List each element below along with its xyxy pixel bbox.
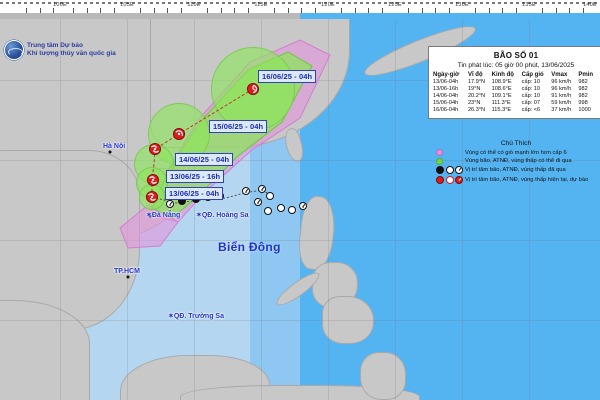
place-label-hoangsa: ✶QĐ. Hoàng Sa [196, 211, 249, 219]
legend-label: Vị trí tâm bão, ATNĐ, vùng thấp hiện tại… [465, 177, 588, 183]
legend-symbols [428, 158, 462, 165]
cell-latitude: 26.3°N [468, 107, 492, 114]
col-longitude: Kinh độ [492, 72, 522, 79]
gridline-lat [0, 320, 600, 321]
cell-datetime: 15/06-04h [433, 100, 468, 107]
gridline-lon [328, 18, 329, 400]
lon-tick-100e: 100E [53, 2, 67, 8]
col-windlevel: Cấp gió [522, 72, 552, 79]
cell-datetime: 13/06-16h [433, 86, 468, 93]
cell-vmax: 59 km/h [551, 100, 578, 107]
track-label-15-06: 15/06/25 - 04h [209, 120, 267, 133]
cell-vmax: 96 km/h [551, 79, 578, 86]
legend-row-current-position: Vị trí tâm bão, ATNĐ, vùng thấp hiện tại… [428, 176, 600, 184]
cell-longitude: 111.3°E [492, 100, 522, 107]
lon-tick-135e: 135E [522, 2, 536, 8]
cell-latitude: 23°N [468, 100, 492, 107]
col-datetime: Ngày-giờ [433, 72, 468, 79]
typhoon-forecast-map: 16/06/25 - 04h 15/06/25 - 04h 14/06/25 -… [0, 0, 600, 400]
storm-center-16-06 [247, 83, 260, 96]
red-half-circle-icon [455, 176, 463, 184]
black-open-circle-icon [446, 166, 454, 174]
black-filled-circle-icon [436, 166, 444, 174]
storm-center-14-06 [149, 143, 162, 156]
lon-tick-125e: 125E [388, 2, 402, 8]
place-label-truongsa: ✶QĐ. Trường Sa [168, 312, 224, 320]
landmass-sulawesi [360, 352, 406, 400]
cell-windlevel: cấp: 07 [522, 100, 552, 107]
lon-tick-130e: 130E [455, 2, 469, 8]
cell-pmin: 998 [578, 100, 599, 107]
legend-row-past-position: Vị trí tâm bão, ATNĐ, vùng thấp đã qua [428, 166, 600, 174]
storm-center-13-06-04h-current [146, 191, 159, 204]
city-marker-hcmc [127, 276, 130, 279]
lon-tick-110e: 110E [187, 2, 200, 8]
past-position-marker [254, 198, 262, 206]
legend-row-track-area: Vùng bão, ATNĐ, vùng thấp có thể đi qua [428, 158, 600, 165]
legend-symbols [428, 166, 462, 174]
cell-longitude: 109.1°E [492, 93, 522, 100]
cell-windlevel: cấp: 10 [522, 79, 552, 86]
black-half-circle-icon [455, 166, 463, 174]
past-position-marker [288, 206, 296, 214]
table-header-row: Ngày-giờ Vĩ độ Kinh độ Cấp gió Vmax Pmin [433, 72, 599, 79]
col-latitude: Vĩ độ [468, 72, 492, 79]
agency-name: Trung tâm Dự báo Khí tượng thủy văn quốc… [27, 42, 116, 59]
axis-dashed-border [0, 2, 600, 4]
past-position-marker [258, 185, 266, 193]
lon-tick-105e: 105E [120, 2, 134, 8]
storm-center-13-06-16h [147, 174, 160, 187]
legend-title: Chú Thích [428, 140, 600, 147]
gridline-lon [194, 18, 195, 400]
track-label-13-06-04h: 13/06/25 - 04h [165, 187, 223, 200]
legend-label: Vùng có thể có gió mạnh lớn hơn cấp 6 [465, 150, 567, 156]
col-pmin: Pmin [578, 72, 599, 79]
cell-windlevel: cấp: 10 [522, 86, 552, 93]
cell-datetime: 13/06-04h [433, 79, 468, 86]
track-label-14-06: 14/06/25 - 04h [175, 153, 233, 166]
red-filled-circle-icon [436, 176, 444, 184]
place-label-hcmc: TP.HCM [114, 268, 140, 275]
gridline-lat [0, 240, 600, 241]
table-row: 15/06-04h 23°N 111.3°E cấp: 07 59 km/h 9… [433, 100, 599, 107]
gridline-lon [127, 18, 128, 400]
axis-water-band [300, 13, 600, 19]
storm-info-panel: BÃO SỐ 01 Tin phát lúc: 05 giờ 00 phút, … [428, 46, 600, 119]
cell-longitude: 108.9°E [492, 79, 522, 86]
red-open-circle-icon [446, 176, 454, 184]
legend-row-wind-area: Vùng có thể có gió mạnh lớn hơn cấp 6 [428, 149, 600, 156]
lon-tick-140e: 140E [583, 2, 597, 8]
cell-pmin: 1000 [578, 107, 599, 114]
cell-pmin: 982 [578, 79, 599, 86]
past-position-marker [299, 202, 307, 210]
place-label-danang: ✶Đà Nẵng [146, 211, 180, 219]
legend-label: Vị trí tâm bão, ATNĐ, vùng thấp đã qua [465, 167, 566, 173]
map-legend: Chú Thích Vùng có thể có gió mạnh lớn hơ… [428, 140, 600, 185]
gridline-lon [395, 18, 396, 400]
cell-vmax: 37 km/h [551, 107, 578, 114]
cell-pmin: 982 [578, 86, 599, 93]
pink-circle-icon [436, 149, 443, 156]
storm-center-15-06 [173, 128, 186, 141]
cell-longitude: 115.3°E [492, 107, 522, 114]
past-position-marker [264, 207, 272, 215]
cell-datetime: 14/06-04h [433, 93, 468, 100]
cell-latitude: 20.2°N [468, 93, 492, 100]
past-position-marker [166, 200, 174, 208]
cell-longitude: 108.6°E [492, 86, 522, 93]
longitude-axis: 100E 105E 110E 115E 120E 125E 130E 135E … [0, 0, 600, 19]
table-row: 14/06-04h 20.2°N 109.1°E cấp: 10 91 km/h… [433, 93, 599, 100]
past-position-marker [242, 187, 250, 195]
table-row: 16/06-04h 26.3°N 115.3°E cấp: <6 37 km/h… [433, 107, 599, 114]
table-row: 13/06-16h 19°N 108.6°E cấp: 10 96 km/h 9… [433, 86, 599, 93]
cell-windlevel: cấp: 10 [522, 93, 552, 100]
past-position-marker [266, 192, 274, 200]
legend-symbols [428, 149, 462, 156]
gridline-lon [60, 18, 61, 400]
sea-label-bien-dong: Biển Đông [218, 240, 281, 254]
track-label-13-06-16h: 13/06/25 - 16h [166, 170, 224, 183]
cell-latitude: 17.9°N [468, 79, 492, 86]
cell-windlevel: cấp: <6 [522, 107, 552, 114]
legend-label: Vùng bão, ATNĐ, vùng thấp có thể đi qua [465, 158, 572, 164]
lon-tick-115e: 115E [254, 2, 267, 8]
legend-symbols [428, 176, 462, 184]
place-label-hanoi: Hà Nội [103, 143, 125, 150]
past-position-marker [277, 204, 285, 212]
track-label-16-06: 16/06/25 - 04h [258, 70, 316, 83]
cell-latitude: 19°N [468, 86, 492, 93]
panel-issue-time: Tin phát lúc: 05 giờ 00 phút, 13/06/2025 [433, 62, 599, 69]
cell-datetime: 16/06-04h [433, 107, 468, 114]
panel-title: BÃO SỐ 01 [433, 51, 599, 60]
cell-pmin: 982 [578, 93, 599, 100]
table-row: 13/06-04h 17.9°N 108.9°E cấp: 10 96 km/h… [433, 79, 599, 86]
city-marker-hanoi [109, 151, 112, 154]
forecast-table: Ngày-giờ Vĩ độ Kinh độ Cấp gió Vmax Pmin… [433, 72, 599, 114]
lon-tick-120e: 120E [321, 2, 335, 8]
cell-vmax: 91 km/h [551, 93, 578, 100]
agency-branding: Trung tâm Dự báo Khí tượng thủy văn quốc… [4, 40, 116, 60]
green-circle-icon [436, 158, 443, 165]
col-vmax: Vmax [551, 72, 578, 79]
cell-vmax: 96 km/h [551, 86, 578, 93]
globe-icon [4, 40, 24, 60]
